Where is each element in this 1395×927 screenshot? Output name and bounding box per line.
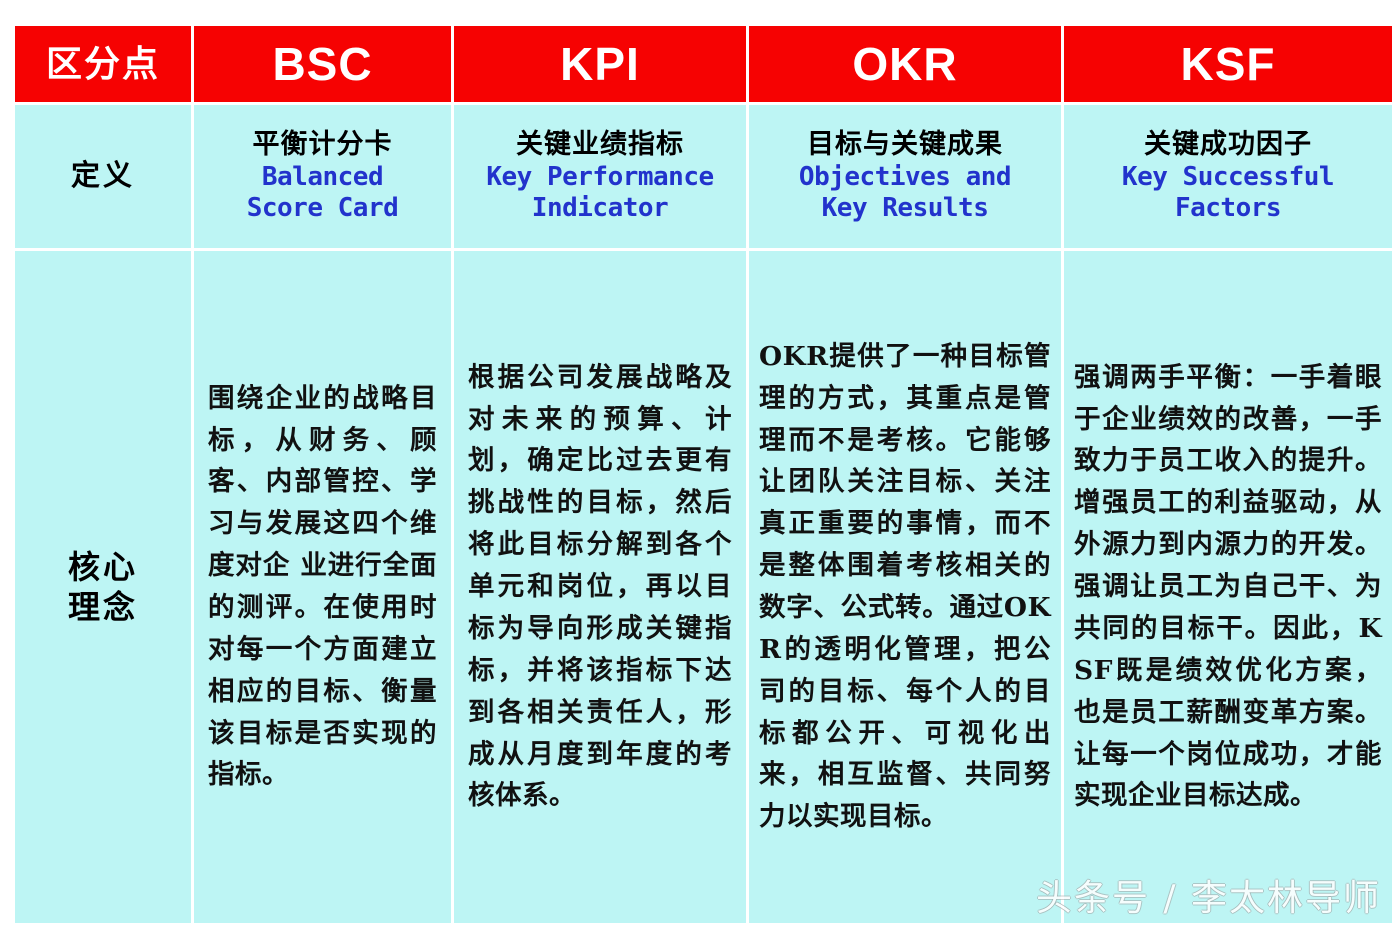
core-concept-cell-ksf: 强调两手平衡：一手着眼于企业绩效的改善，一手致力于员工收入的提升。增强员工的利益… [1064,251,1392,923]
header-cell-ksf: KSF [1064,26,1392,102]
header-bsc-text: BSC [272,38,372,90]
header-label-text: 区分点 [46,43,160,84]
definition-bsc-cn: 平衡计分卡 [198,128,447,161]
header-okr-text: OKR [852,38,957,90]
definition-kpi-cn: 关键业绩指标 [458,128,742,161]
header-cell-bsc: BSC [194,26,451,102]
definition-kpi-en: Key Performance Indicator [458,162,742,225]
definition-cell-okr: 目标与关键成果 Objectives and Key Results [749,105,1061,248]
table-row-definition: 定义 平衡计分卡 Balanced Score Card 关键业绩指标 Key … [15,105,1392,248]
definition-cell-bsc: 平衡计分卡 Balanced Score Card [194,105,451,248]
table-row-core-concept: 核心 理念 围绕企业的战略目标，从财务、顾客、内部管控、学习与发展这四个维度对企… [15,251,1392,923]
definition-okr-cn: 目标与关键成果 [753,128,1057,161]
definition-okr-en: Objectives and Key Results [753,162,1057,225]
header-kpi-text: KPI [560,38,640,90]
core-concept-cell-kpi: 根据公司发展战略及对未来的预算、计划，确定比过去更有挑战性的目标，然后将此目标分… [454,251,746,923]
comparison-table-slide: 区分点 BSC KPI OKR KSF 定义 平衡计分卡 [0,0,1395,927]
header-cell-kpi: KPI [454,26,746,102]
definition-ksf-cn: 关键成功因子 [1068,128,1388,161]
header-ksf-text: KSF [1181,38,1276,90]
definition-cell-kpi: 关键业绩指标 Key Performance Indicator [454,105,746,248]
header-cell-label: 区分点 [15,26,191,102]
row-label-core-concept: 核心 理念 [15,251,191,923]
definition-ksf-en: Key Successful Factors [1068,162,1388,225]
row-label-definition: 定义 [15,105,191,248]
comparison-table: 区分点 BSC KPI OKR KSF 定义 平衡计分卡 [12,23,1395,926]
header-cell-okr: OKR [749,26,1061,102]
definition-bsc-en: Balanced Score Card [198,162,447,225]
definition-cell-ksf: 关键成功因子 Key Successful Factors [1064,105,1392,248]
core-concept-cell-bsc: 围绕企业的战略目标，从财务、顾客、内部管控、学习与发展这四个维度对企 业进行全面… [194,251,451,923]
table-header-row: 区分点 BSC KPI OKR KSF [15,26,1392,102]
core-concept-cell-okr: OKR提供了一种目标管理的方式，其重点是管理而不是考核。它能够让团队关注目标、关… [749,251,1061,923]
